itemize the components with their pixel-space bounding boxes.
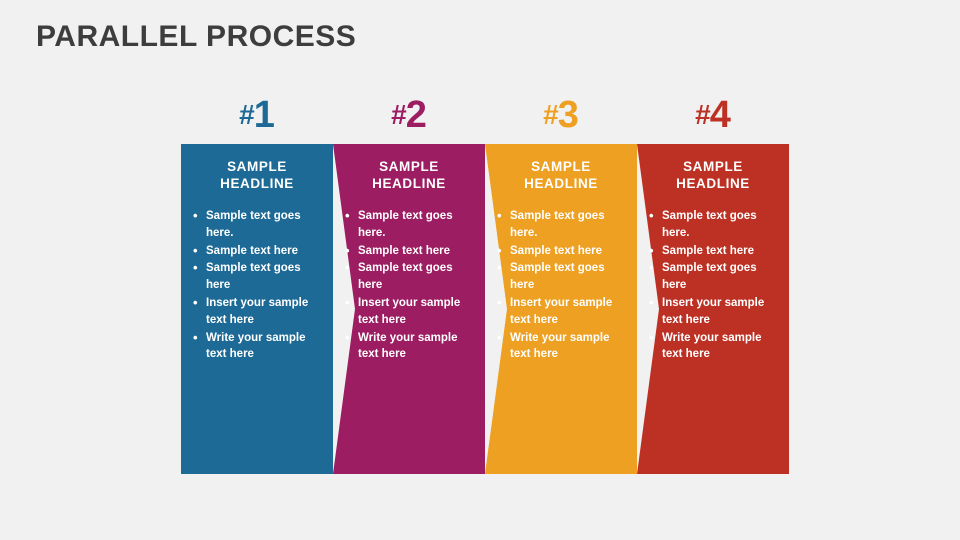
step-number-1: #1 — [181, 92, 333, 138]
list-item: Insert your sample text here — [647, 295, 779, 329]
list-item: Sample text here — [191, 243, 323, 260]
list-item: Write your sample text here — [495, 330, 627, 364]
headline-line-1b: HEADLINE — [191, 175, 323, 192]
step-number-value-1: 1 — [254, 94, 275, 136]
headline-line-2a: SAMPLE — [379, 159, 439, 174]
list-item: Insert your sample text here — [495, 295, 627, 329]
panel-headline-1: SAMPLE HEADLINE — [191, 158, 323, 192]
step-number-value-3: 3 — [558, 94, 579, 136]
panel-headline-2: SAMPLE HEADLINE — [343, 158, 475, 192]
hash-symbol-3: # — [543, 99, 559, 130]
list-item: Sample text goes here. — [647, 208, 779, 242]
hash-symbol-2: # — [391, 99, 407, 130]
step-number-2: #2 — [333, 92, 485, 138]
headline-line-2b: HEADLINE — [343, 175, 475, 192]
list-item: Sample text goes here — [495, 260, 627, 294]
panel-headline-3: SAMPLE HEADLINE — [495, 158, 627, 192]
process-panel-2[interactable]: SAMPLE HEADLINE Sample text goes here. S… — [333, 144, 485, 474]
list-item: Write your sample text here — [343, 330, 475, 364]
list-item: Sample text goes here. — [343, 208, 475, 242]
hash-symbol-4: # — [695, 99, 711, 130]
panel-bullet-list-1: Sample text goes here. Sample text here … — [191, 208, 323, 363]
process-panel-4[interactable]: SAMPLE HEADLINE Sample text goes here. S… — [637, 144, 789, 474]
list-item: Sample text here — [647, 243, 779, 260]
hash-symbol-1: # — [239, 99, 255, 130]
step-number-3: #3 — [485, 92, 637, 138]
list-item: Sample text here — [343, 243, 475, 260]
panel-bullet-list-3: Sample text goes here. Sample text here … — [495, 208, 627, 363]
headline-line-3b: HEADLINE — [495, 175, 627, 192]
list-item: Sample text goes here. — [495, 208, 627, 242]
parallel-process-diagram: #1 SAMPLE HEADLINE Sample text goes here… — [0, 92, 960, 492]
headline-line-4a: SAMPLE — [683, 159, 743, 174]
process-panel-3[interactable]: SAMPLE HEADLINE Sample text goes here. S… — [485, 144, 637, 474]
page-title: PARALLEL PROCESS — [36, 20, 356, 54]
list-item: Sample text goes here. — [191, 208, 323, 242]
step-number-value-2: 2 — [406, 94, 427, 136]
step-number-value-4: 4 — [710, 94, 731, 136]
list-item: Write your sample text here — [191, 330, 323, 364]
slide: PARALLEL PROCESS #1 SAMPLE HEADLINE — [0, 0, 960, 540]
headline-line-1a: SAMPLE — [227, 159, 287, 174]
list-item: Insert your sample text here — [343, 295, 475, 329]
list-item: Insert your sample text here — [191, 295, 323, 329]
list-item: Sample text goes here — [343, 260, 475, 294]
headline-line-3a: SAMPLE — [531, 159, 591, 174]
headline-line-4b: HEADLINE — [647, 175, 779, 192]
list-item: Write your sample text here — [647, 330, 779, 364]
process-panel-1[interactable]: SAMPLE HEADLINE Sample text goes here. S… — [181, 144, 333, 474]
panel-bullet-list-2: Sample text goes here. Sample text here … — [343, 208, 475, 363]
step-number-4: #4 — [637, 92, 789, 138]
list-item: Sample text goes here — [191, 260, 323, 294]
list-item: Sample text goes here — [647, 260, 779, 294]
list-item: Sample text here — [495, 243, 627, 260]
panel-bullet-list-4: Sample text goes here. Sample text here … — [647, 208, 779, 363]
panel-headline-4: SAMPLE HEADLINE — [647, 158, 779, 192]
